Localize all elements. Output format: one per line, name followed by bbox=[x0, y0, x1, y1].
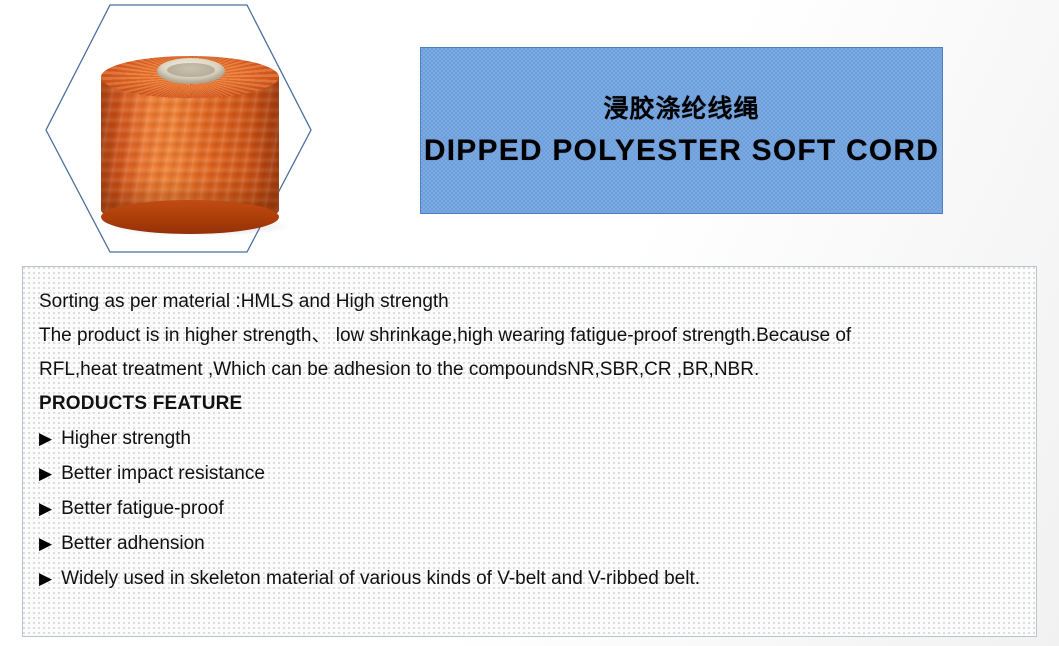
cord-spool-illustration bbox=[101, 56, 279, 224]
product-image-hexagon-frame bbox=[41, 0, 316, 260]
feature-label: Higher strength bbox=[61, 421, 191, 456]
spool-core-hole bbox=[167, 63, 215, 77]
description-line-3: RFL,heat treatment ,Which can be adhesio… bbox=[39, 353, 1020, 387]
feature-item: ▶ Better fatigue-proof bbox=[39, 491, 1020, 526]
triangle-bullet-icon: ▶ bbox=[39, 526, 52, 561]
product-photo bbox=[93, 28, 288, 238]
description-line-2: The product is in higher strength、 low s… bbox=[39, 319, 1020, 353]
feature-item: ▶ Better adhension bbox=[39, 526, 1020, 561]
feature-label: Widely used in skeleton material of vari… bbox=[61, 561, 700, 596]
description-panel: Sorting as per material :HMLS and High s… bbox=[22, 266, 1037, 637]
feature-label: Better fatigue-proof bbox=[61, 491, 224, 526]
banner-title-chinese: 浸胶涤纶线绳 bbox=[603, 94, 759, 124]
description-line-1: Sorting as per material :HMLS and High s… bbox=[39, 285, 1020, 319]
feature-label: Better impact resistance bbox=[61, 456, 265, 491]
triangle-bullet-icon: ▶ bbox=[39, 491, 52, 526]
feature-item: ▶ Higher strength bbox=[39, 421, 1020, 456]
triangle-bullet-icon: ▶ bbox=[39, 456, 52, 491]
spool-bottom-edge bbox=[101, 200, 279, 234]
products-feature-heading: PRODUCTS FEATURE bbox=[39, 387, 1020, 421]
feature-label: Better adhension bbox=[61, 526, 205, 561]
feature-item: ▶ Better impact resistance bbox=[39, 456, 1020, 491]
banner-title-english: DIPPED POLYESTER SOFT CORD bbox=[424, 134, 939, 167]
triangle-bullet-icon: ▶ bbox=[39, 421, 52, 456]
title-banner: 浸胶涤纶线绳 DIPPED POLYESTER SOFT CORD bbox=[420, 47, 943, 214]
triangle-bullet-icon: ▶ bbox=[39, 561, 52, 596]
feature-item: ▶ Widely used in skeleton material of va… bbox=[39, 561, 1020, 596]
